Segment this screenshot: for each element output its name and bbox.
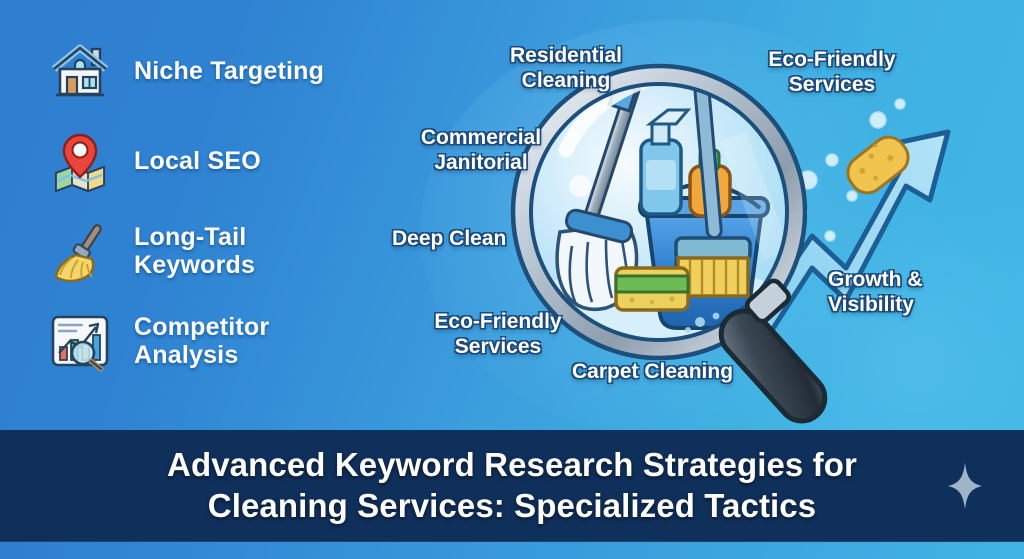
droplets <box>685 313 719 333</box>
feature-label: Long-Tail Keywords <box>134 223 255 279</box>
keyword-label-eco-friendly-left: Eco-Friendly Services <box>408 310 588 359</box>
banner-bottom-strip <box>0 542 1024 559</box>
keyword-label-carpet-cleaning: Carpet Cleaning <box>572 360 802 385</box>
title-banner: Advanced Keyword Research Strategies for… <box>0 430 1024 542</box>
feature-label: Local SEO <box>134 147 261 175</box>
keyword-label-deep-clean: Deep Clean <box>392 227 572 252</box>
cleaner-bottle-icon <box>690 150 730 216</box>
feature-item-local-seo[interactable]: Local SEO <box>48 116 378 206</box>
keyword-label-eco-friendly-right: Eco-Friendly Services <box>732 48 932 97</box>
infographic-canvas: Niche Targeting Local SEO <box>0 0 1024 559</box>
bucket-icon <box>640 184 768 328</box>
feature-item-long-tail-keywords[interactable]: Long-Tail Keywords <box>48 206 378 296</box>
keyword-label-growth-visibility: Growth & Visibility <box>828 268 988 317</box>
keyword-label-residential-cleaning: Residential Cleaning <box>466 44 666 93</box>
map-pin-icon <box>48 129 112 193</box>
feature-item-niche-targeting[interactable]: Niche Targeting <box>48 26 378 116</box>
feature-label: Competitor Analysis <box>134 313 269 369</box>
bar-chart-search-icon <box>48 309 112 373</box>
feature-list: Niche Targeting Local SEO <box>48 26 378 386</box>
sponge-icon <box>616 268 688 310</box>
feature-label: Niche Targeting <box>134 57 324 85</box>
broom-icon <box>48 219 112 283</box>
sparkle-icon <box>948 463 982 509</box>
page-title: Advanced Keyword Research Strategies for… <box>77 445 947 527</box>
magnifier-handle <box>712 278 835 430</box>
spray-bottle-icon <box>641 110 688 214</box>
keyword-label-commercial-janitorial: Commercial Janitorial <box>386 126 576 175</box>
house-icon <box>48 39 112 103</box>
feature-item-competitor-analysis[interactable]: Competitor Analysis <box>48 296 378 386</box>
